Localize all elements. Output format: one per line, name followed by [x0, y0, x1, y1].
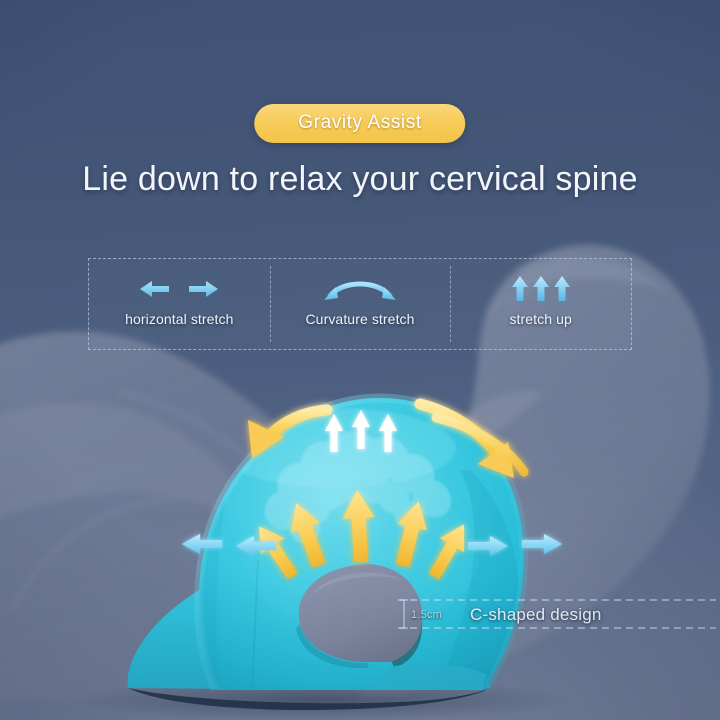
marketing-graphic-stage: Gravity Assist Lie down to relax your ce… — [0, 0, 720, 720]
vignette-overlay — [0, 0, 720, 720]
